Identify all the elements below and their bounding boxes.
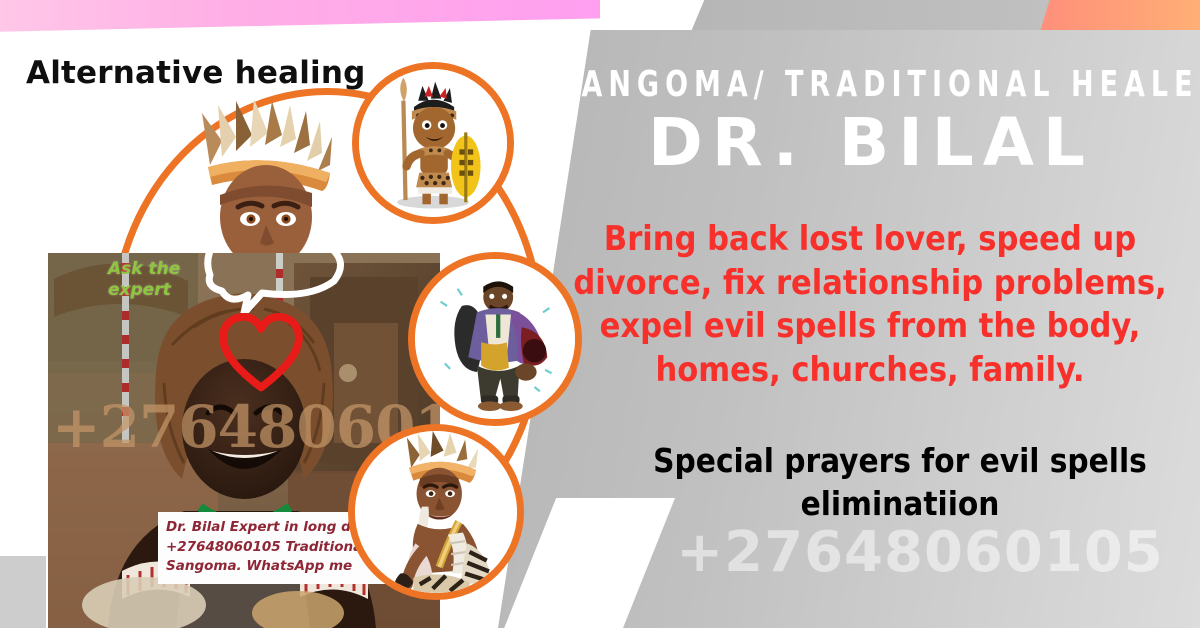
alternative-healing-heading: Alternative healing (26, 55, 366, 91)
circle-robed-healer (408, 252, 582, 426)
services-text: Bring back lost lover, speed up divorce,… (540, 218, 1200, 392)
poster-canvas: SANGOMA/ TRADITIONAL HEALER DR. BILAL Br… (0, 0, 1200, 628)
zulu-warrior-cartoon-icon (359, 69, 507, 217)
circle-zulu-warrior-cartoon (352, 62, 514, 224)
speech-bubble-text: Ask the expert (108, 259, 218, 302)
circle-crouching-warrior (348, 424, 524, 600)
heart-outline-icon (218, 313, 304, 393)
pink-gradient-bar (0, 0, 600, 32)
gray-left-strip (0, 556, 46, 628)
crouching-warrior-icon (355, 431, 517, 593)
kicker-text: SANGOMA/ TRADITIONAL HEALER (556, 64, 1186, 105)
phone-watermark: +27648060105 (640, 520, 1200, 585)
page-title: DR. BILAL (556, 110, 1186, 176)
prayers-text: Special prayers for evil spells eliminat… (600, 440, 1200, 526)
speech-bubble (200, 253, 350, 313)
orange-gradient-bar (1040, 0, 1200, 32)
robed-healer-icon (415, 259, 575, 419)
